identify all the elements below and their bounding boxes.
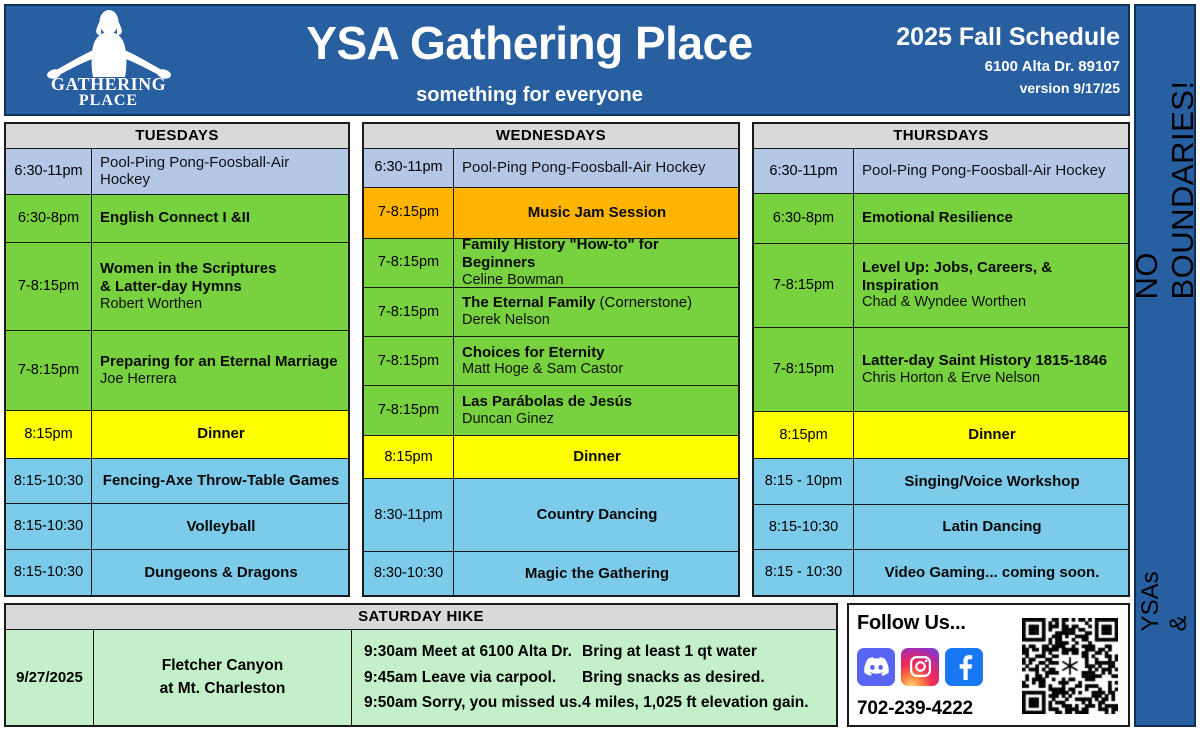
event-title: Video Gaming... coming soon. xyxy=(885,564,1100,582)
page-title: YSA Gathering Place xyxy=(306,20,752,66)
day-column-tuesdays: TUESDAYS 6:30-11pmPool-Ping Pong-Foosbal… xyxy=(4,122,350,597)
row-time: 7-8:15pm xyxy=(364,288,454,336)
row-event: The Eternal Family (Cornerstone)Derek Ne… xyxy=(454,288,738,336)
row-time: 6:30-11pm xyxy=(364,149,454,187)
hike-detail-row: 9:50am Sorry, you missed us. 4 miles, 1,… xyxy=(364,690,828,716)
rows-tuesdays: 6:30-11pmPool-Ping Pong-Foosball-Air Hoc… xyxy=(6,149,348,595)
logo-line-3: PLACE xyxy=(51,93,166,109)
phone-number: 702-239-4222 xyxy=(857,698,1018,720)
side-banner: NO BOUNDARIES! All YSAs & friends! xyxy=(1134,4,1196,727)
schedule-row: 7-8:15pmMusic Jam Session xyxy=(364,188,738,239)
schedule-row: 7-8:15pmLas Parábolas de JesúsDuncan Gin… xyxy=(364,386,738,435)
event-title: Dungeons & Dragons xyxy=(144,564,297,582)
row-event: Preparing for an Eternal MarriageJoe Her… xyxy=(92,331,348,409)
event-title: English Connect I &II xyxy=(100,209,342,227)
page-subtitle: something for everyone xyxy=(416,84,643,107)
event-title: Women in the Scriptures xyxy=(100,260,342,278)
hike-detail-right: 4 miles, 1,025 ft elevation gain. xyxy=(582,690,828,716)
day-column-wednesdays: WEDNESDAYS 6:30-11pmPool-Ping Pong-Foosb… xyxy=(362,122,740,597)
schedule-row: 8:15-10:30Volleyball xyxy=(6,504,348,550)
instagram-glyph xyxy=(908,654,933,679)
schedule-row: 7-8:15pmPreparing for an Eternal Marriag… xyxy=(6,331,348,410)
row-event: Latter-day Saint History 1815-1846Chris … xyxy=(854,328,1128,411)
address-label: 6100 Alta Dr. 89107 xyxy=(985,58,1120,75)
version-label: version 9/17/25 xyxy=(1020,80,1120,96)
row-time: 8:15-10:30 xyxy=(6,550,92,595)
row-time: 6:30-8pm xyxy=(6,195,92,242)
row-event: Level Up: Jobs, Careers, & InspirationCh… xyxy=(854,244,1128,327)
rows-wednesdays: 6:30-11pmPool-Ping Pong-Foosball-Air Hoc… xyxy=(364,149,738,595)
hike-heading: SATURDAY HIKE xyxy=(6,605,836,630)
schedule-row: 6:30-11pmPool-Ping Pong-Foosball-Air Hoc… xyxy=(6,149,348,195)
event-title: Las Parábolas de Jesús xyxy=(462,393,732,411)
hike-detail-row: 9:45am Leave via carpool. Bring snacks a… xyxy=(364,665,828,691)
event-title: Dinner xyxy=(197,425,245,443)
schedule-row: 6:30-8pmEnglish Connect I &II xyxy=(6,195,348,243)
row-time: 8:15-10:30 xyxy=(6,459,92,504)
event-presenter: Chris Horton & Erve Nelson xyxy=(862,370,1122,387)
schedule-row: 8:15 - 10pmSinging/Voice Workshop xyxy=(754,459,1128,505)
hike-details: 9:30am Meet at 6100 Alta Dr. Bring at le… xyxy=(352,630,836,725)
schedule-row: 8:15pmDinner xyxy=(754,412,1128,459)
schedule-row: 8:15-10:30Dungeons & Dragons xyxy=(6,550,348,595)
row-time: 6:30-11pm xyxy=(754,149,854,193)
event-title-line2: & Latter-day Hymns xyxy=(100,278,342,296)
row-event: Pool-Ping Pong-Foosball-Air Hockey xyxy=(92,149,348,194)
title-block: YSA Gathering Place something for everyo… xyxy=(191,6,878,114)
qr-code[interactable] xyxy=(1022,618,1118,714)
event-title: Pool-Ping Pong-Foosball-Air Hockey xyxy=(462,159,732,176)
row-event: Family History "How-to" for BeginnersCel… xyxy=(454,239,738,287)
event-title: Singing/Voice Workshop xyxy=(904,473,1079,491)
row-event: Country Dancing xyxy=(454,479,738,551)
event-title: Magic the Gathering xyxy=(525,565,669,583)
row-event: Emotional Resilience xyxy=(854,194,1128,243)
bottom-section: SATURDAY HIKE 9/27/2025 Fletcher Canyon … xyxy=(4,603,1130,727)
schedule-row: 7-8:15pmLatter-day Saint History 1815-18… xyxy=(754,328,1128,412)
side-banner-subline: All YSAs & friends! xyxy=(1134,553,1196,632)
discord-icon[interactable] xyxy=(857,648,895,686)
event-presenter: Robert Worthen xyxy=(100,296,342,313)
logo-wordmark: YSA GATHERING PLACE xyxy=(51,64,166,109)
row-time: 8:15 - 10:30 xyxy=(754,550,854,595)
schedule-row: 6:30-11pmPool-Ping Pong-Foosball-Air Hoc… xyxy=(364,149,738,188)
row-time: 8:15-10:30 xyxy=(6,504,92,549)
schedule-row: 7-8:15pmThe Eternal Family (Cornerstone)… xyxy=(364,288,738,337)
hike-detail-row: 9:30am Meet at 6100 Alta Dr. Bring at le… xyxy=(364,639,828,665)
row-time: 8:15pm xyxy=(6,411,92,458)
row-event: Video Gaming... coming soon. xyxy=(854,550,1128,595)
row-time: 7-8:15pm xyxy=(6,243,92,330)
event-title: Dinner xyxy=(968,426,1016,444)
facebook-icon[interactable] xyxy=(945,648,983,686)
day-header-tuesdays: TUESDAYS xyxy=(6,124,348,149)
row-time: 8:15pm xyxy=(364,436,454,479)
side-banner-headline: NO BOUNDARIES! xyxy=(1134,80,1196,299)
hike-detail-left: 9:50am Sorry, you missed us. xyxy=(364,690,582,716)
row-event: Volleyball xyxy=(92,504,348,549)
row-time: 6:30-8pm xyxy=(754,194,854,243)
hike-body: 9/27/2025 Fletcher Canyon at Mt. Charles… xyxy=(6,630,836,725)
row-event: Women in the Scriptures& Latter-day Hymn… xyxy=(92,243,348,330)
poster-header: YSA GATHERING PLACE YSA Gathering Place … xyxy=(4,4,1130,116)
event-title: Preparing for an Eternal Marriage xyxy=(100,353,342,371)
schedule-row: 8:15 - 10:30Video Gaming... coming soon. xyxy=(754,550,1128,595)
row-event: Singing/Voice Workshop xyxy=(854,459,1128,504)
hike-location-line2: at Mt. Charleston xyxy=(160,678,286,700)
row-time: 7-8:15pm xyxy=(754,328,854,411)
event-title: Country Dancing xyxy=(537,506,658,524)
schedule-row: 8:15-10:30Latin Dancing xyxy=(754,505,1128,551)
event-presenter: Duncan Ginez xyxy=(462,411,732,428)
row-time: 8:15-10:30 xyxy=(754,505,854,550)
logo-line-2: GATHERING xyxy=(51,75,166,93)
logo-container: YSA GATHERING PLACE xyxy=(6,6,191,114)
event-title: Family History "How-to" for Beginners xyxy=(462,239,732,272)
row-event: Magic the Gathering xyxy=(454,552,738,595)
event-presenter: Derek Nelson xyxy=(462,312,732,329)
event-title: Dinner xyxy=(573,448,621,466)
event-presenter: Matt Hoge & Sam Castor xyxy=(462,361,732,378)
hike-detail-left: 9:30am Meet at 6100 Alta Dr. xyxy=(364,639,582,665)
ysa-logo: YSA GATHERING PLACE xyxy=(34,9,184,111)
event-title: Latter-day Saint History 1815-1846 xyxy=(862,352,1122,370)
day-column-thursdays: THURSDAYS 6:30-11pmPool-Ping Pong-Foosba… xyxy=(752,122,1130,597)
row-time: 8:15 - 10pm xyxy=(754,459,854,504)
event-title: Volleyball xyxy=(187,518,256,536)
schedule-row: 6:30-11pmPool-Ping Pong-Foosball-Air Hoc… xyxy=(754,149,1128,194)
hike-date: 9/27/2025 xyxy=(6,630,94,725)
row-time: 8:15pm xyxy=(754,412,854,458)
row-event: Choices for EternityMatt Hoge & Sam Cast… xyxy=(454,337,738,385)
hike-location: Fletcher Canyon at Mt. Charleston xyxy=(94,630,352,725)
row-event: Latin Dancing xyxy=(854,505,1128,550)
event-title: Pool-Ping Pong-Foosball-Air Hockey xyxy=(862,162,1122,179)
row-event: Dungeons & Dragons xyxy=(92,550,348,595)
row-event: Music Jam Session xyxy=(454,188,738,238)
event-title: Choices for Eternity xyxy=(462,344,732,362)
schedule-row: 8:15pmDinner xyxy=(6,411,348,459)
row-time: 6:30-11pm xyxy=(6,149,92,194)
hike-detail-right: Bring snacks as desired. xyxy=(582,665,828,691)
schedule-row: 8:30-10:30Magic the Gathering xyxy=(364,552,738,595)
header-meta: 2025 Fall Schedule 6100 Alta Dr. 89107 v… xyxy=(878,6,1128,114)
row-time: 7-8:15pm xyxy=(754,244,854,327)
schedule-row: 7-8:15pmLevel Up: Jobs, Careers, & Inspi… xyxy=(754,244,1128,328)
row-event: Pool-Ping Pong-Foosball-Air Hockey xyxy=(454,149,738,187)
schedule-row: 8:15pmDinner xyxy=(364,436,738,480)
event-presenter: Celine Bowman xyxy=(462,272,732,287)
schedule-row: 7-8:15pmFamily History "How-to" for Begi… xyxy=(364,239,738,288)
event-title: Latin Dancing xyxy=(942,518,1041,536)
row-time: 8:30-11pm xyxy=(364,479,454,551)
row-time: 7-8:15pm xyxy=(364,337,454,385)
follow-us-left: Follow Us... xyxy=(857,610,1018,721)
schedule-poster: YSA GATHERING PLACE YSA Gathering Place … xyxy=(0,0,1200,731)
hike-detail-right: Bring at least 1 qt water xyxy=(582,639,828,665)
qr-code-container[interactable] xyxy=(1018,610,1122,721)
facebook-glyph xyxy=(953,654,975,680)
row-time: 7-8:15pm xyxy=(364,386,454,434)
event-title: Emotional Resilience xyxy=(862,209,1122,227)
follow-us-panel: Follow Us... xyxy=(847,603,1130,727)
row-time: 7-8:15pm xyxy=(364,239,454,287)
season-label: 2025 Fall Schedule xyxy=(896,24,1120,52)
row-event: Dinner xyxy=(854,412,1128,458)
row-event: Las Parábolas de JesúsDuncan Ginez xyxy=(454,386,738,434)
row-event: Fencing-Axe Throw-Table Games xyxy=(92,459,348,504)
schedule-row: 8:30-11pmCountry Dancing xyxy=(364,479,738,552)
day-header-thursdays: THURSDAYS xyxy=(754,124,1128,149)
day-header-wednesdays: WEDNESDAYS xyxy=(364,124,738,149)
social-links xyxy=(857,648,1018,686)
follow-us-title: Follow Us... xyxy=(857,612,1018,635)
row-event: Dinner xyxy=(92,411,348,458)
row-time: 7-8:15pm xyxy=(6,331,92,409)
instagram-icon[interactable] xyxy=(901,648,939,686)
row-event: English Connect I &II xyxy=(92,195,348,242)
schedule-row: 7-8:15pmChoices for EternityMatt Hoge & … xyxy=(364,337,738,386)
hike-location-line1: Fletcher Canyon xyxy=(162,655,283,677)
rows-thursdays: 6:30-11pmPool-Ping Pong-Foosball-Air Hoc… xyxy=(754,149,1128,595)
schedule-columns: TUESDAYS 6:30-11pmPool-Ping Pong-Foosbal… xyxy=(4,122,1130,597)
hike-detail-left: 9:45am Leave via carpool. xyxy=(364,665,582,691)
discord-glyph xyxy=(864,657,889,676)
event-title-suffix: (Cornerstone) xyxy=(595,294,692,311)
event-title: Fencing-Axe Throw-Table Games xyxy=(103,472,339,490)
event-title: The Eternal Family (Cornerstone) xyxy=(462,294,732,312)
event-title: Level Up: Jobs, Careers, & Inspiration xyxy=(862,259,1122,294)
event-title: Music Jam Session xyxy=(528,204,666,222)
schedule-row: 7-8:15pmWomen in the Scriptures& Latter-… xyxy=(6,243,348,331)
event-title: Pool-Ping Pong-Foosball-Air Hockey xyxy=(100,154,342,188)
event-presenter: Joe Herrera xyxy=(100,371,342,388)
row-event: Dinner xyxy=(454,436,738,479)
row-time: 7-8:15pm xyxy=(364,188,454,238)
schedule-row: 6:30-8pmEmotional Resilience xyxy=(754,194,1128,244)
saturday-hike-panel: SATURDAY HIKE 9/27/2025 Fletcher Canyon … xyxy=(4,603,838,727)
event-presenter: Chad & Wyndee Worthen xyxy=(862,294,1122,311)
schedule-row: 8:15-10:30Fencing-Axe Throw-Table Games xyxy=(6,459,348,505)
row-event: Pool-Ping Pong-Foosball-Air Hockey xyxy=(854,149,1128,193)
row-time: 8:30-10:30 xyxy=(364,552,454,595)
